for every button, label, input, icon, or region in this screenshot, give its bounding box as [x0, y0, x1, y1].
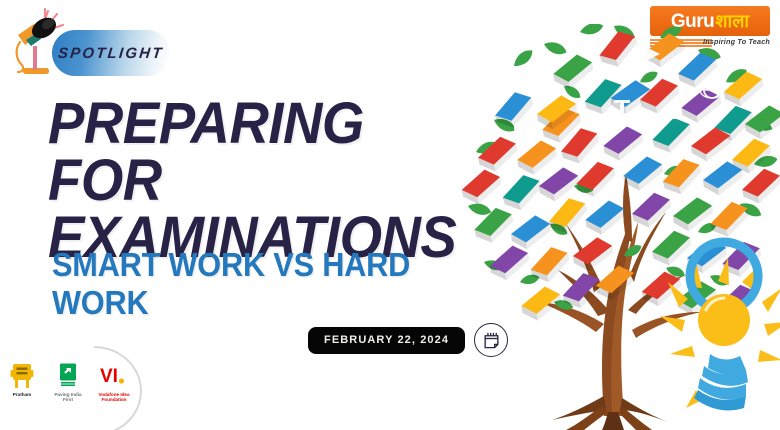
page-title: PREPARING FOR EXAMINATIONS	[48, 96, 443, 266]
partner-label: Paving India First	[50, 392, 86, 403]
page-subtitle: SMART WORK VS HARD WORK	[52, 246, 443, 322]
partner-logo-pratham: Pratham	[4, 362, 40, 397]
book-tree-illustration	[454, 24, 780, 430]
title-line-1: PREPARING FOR	[48, 96, 443, 210]
partner-label: Pratham	[13, 392, 31, 397]
partner-label: Vodafone Idea Foundation	[96, 392, 132, 403]
partner-logo-vodafone-idea-foundation: VI Vodafone Idea Foundation	[96, 362, 132, 403]
svg-text:VI: VI	[100, 366, 118, 387]
partner-logo-paving-india-first: Paving India First	[50, 362, 86, 403]
partner-logos: Pratham Paving India First VI Vodafone I…	[4, 362, 132, 403]
poster-canvas: SPOTLIGHT Guru शाला Inspiring To Teach P…	[0, 0, 780, 430]
spotlight-label: SPOTLIGHT	[57, 45, 164, 62]
event-date-badge: FEBRUARY 22, 2024	[308, 327, 465, 354]
spotlight-badge: SPOTLIGHT	[52, 30, 170, 76]
